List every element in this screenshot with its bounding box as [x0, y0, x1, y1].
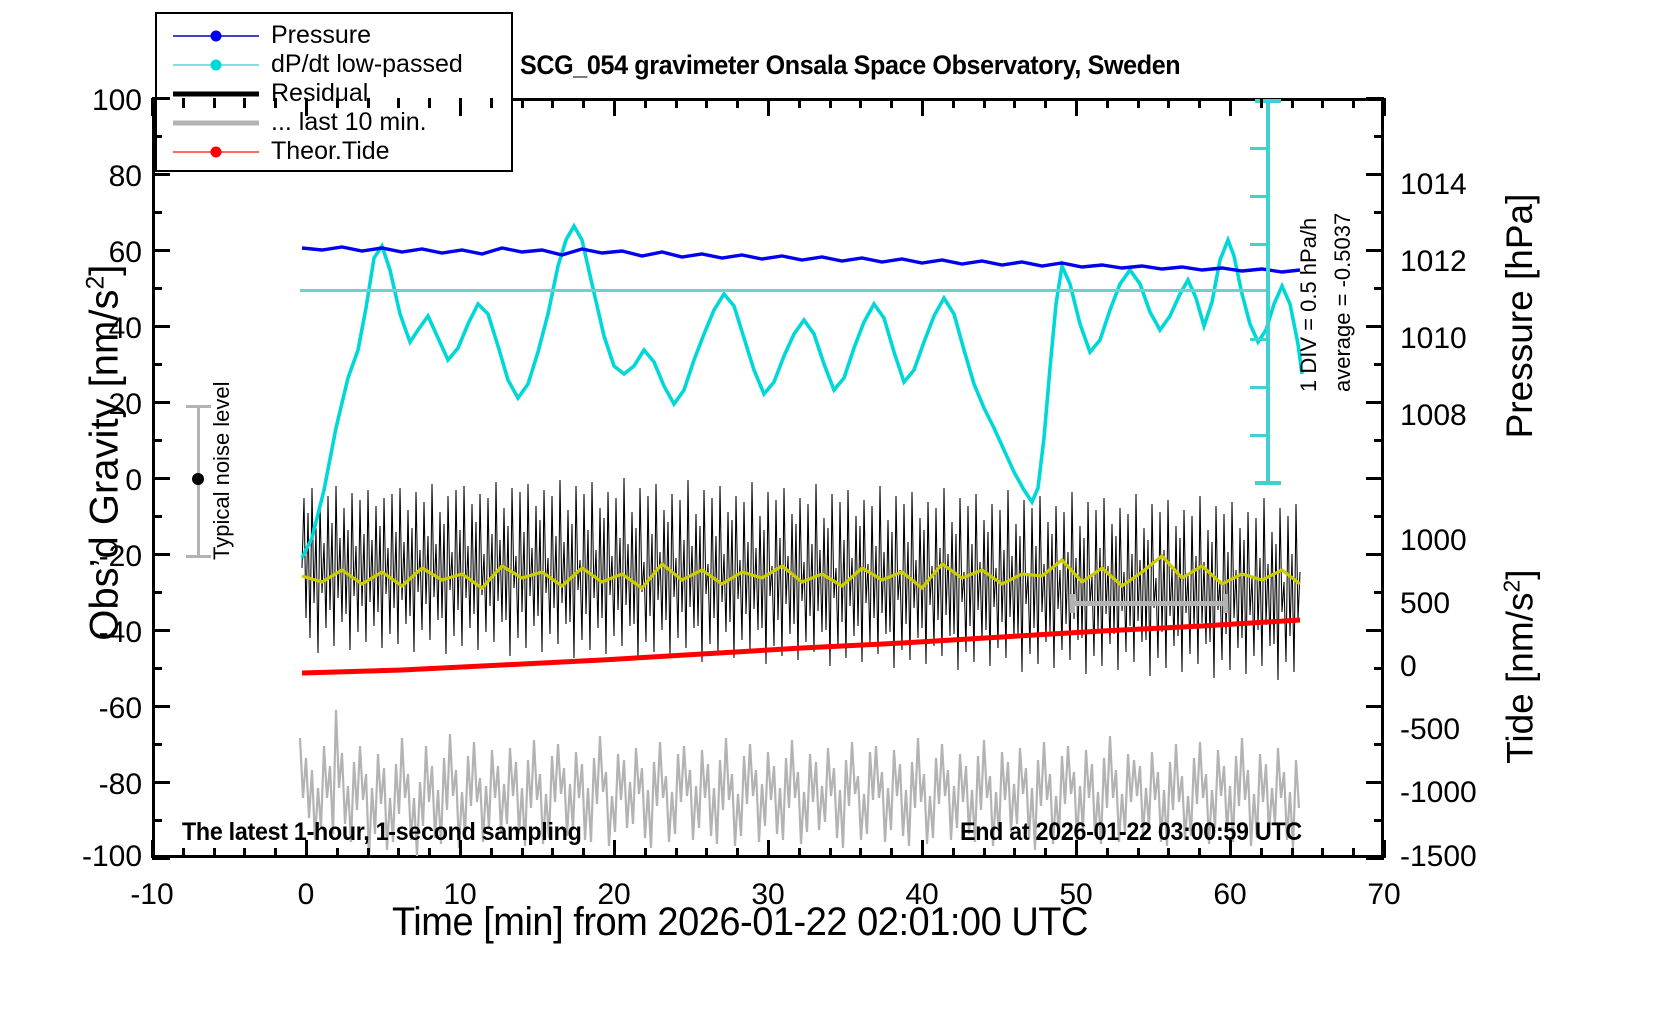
xtick-40: 40	[867, 878, 977, 912]
dpdt-scale-tick	[1250, 147, 1267, 150]
ytick-left-m100: -100	[22, 840, 142, 874]
legend-label-pressure: Pressure	[271, 21, 371, 50]
ytick-pressure-1012: 1012	[1400, 245, 1530, 279]
xtick-60: 60	[1175, 878, 1285, 912]
xtick-m10: -10	[97, 878, 207, 912]
dpdt-scale-tick	[1250, 338, 1267, 341]
legend-swatch-pressure	[173, 26, 259, 46]
legend: Pressure dP/dt low-passed Residual ... l…	[155, 12, 513, 172]
ytick-left-m20: -20	[22, 540, 142, 574]
legend-label-last-10-min: ... last 10 min.	[271, 108, 427, 137]
dpdt-scale-tick	[1250, 434, 1267, 437]
note-end-time: End at 2026-01-22 03:00:59 UTC	[960, 818, 1302, 847]
dpdt-scale-cap-bottom	[1255, 481, 1281, 485]
ytick-left-80: 80	[22, 160, 142, 194]
xtick-30: 30	[713, 878, 823, 912]
chart-title: SCG_054 gravimeter Onsala Space Observat…	[520, 50, 1320, 81]
dpdt-average-note: average = -0.5037	[1330, 213, 1356, 392]
dpdt-scale-tick	[1250, 243, 1267, 246]
noise-level-label: Typical noise level	[209, 381, 235, 560]
ytick-pressure-1010: 1010	[1400, 322, 1530, 356]
ytick-left-0: 0	[22, 464, 142, 498]
legend-swatch-last-10-min	[173, 113, 259, 133]
legend-label-residual: Residual	[271, 79, 368, 108]
xtick-50: 50	[1021, 878, 1131, 912]
xtick-10: 10	[405, 878, 515, 912]
noise-center-dot	[192, 473, 204, 485]
noise-bar-cap-bottom	[186, 555, 211, 558]
legend-swatch-dpdt	[173, 55, 259, 75]
ytick-left-20: 20	[22, 388, 142, 422]
ytick-left-100: 100	[22, 84, 142, 118]
legend-item-dpdt[interactable]: dP/dt low-passed	[173, 50, 511, 79]
dpdt-scale-tick	[1250, 195, 1267, 198]
ytick-tide-500: 500	[1400, 587, 1530, 621]
last-10-min-bracket-right	[1223, 594, 1228, 613]
ytick-left-40: 40	[22, 312, 142, 346]
legend-item-last-10-min[interactable]: ... last 10 min.	[173, 108, 511, 137]
last-10-min-bracket	[1070, 601, 1228, 606]
dpdt-scale-bar	[1266, 99, 1270, 484]
dpdt-scale-tick	[1250, 386, 1267, 389]
ytick-pressure-1008: 1008	[1400, 399, 1530, 433]
dpdt-zero-line	[300, 289, 1270, 292]
dpdt-scale-cap-top	[1255, 99, 1281, 103]
ytick-left-m80: -80	[22, 768, 142, 802]
ytick-tide-0: 0	[1400, 650, 1530, 684]
ytick-tide-m1500: -1500	[1400, 840, 1530, 874]
note-sampling: The latest 1-hour, 1-second sampling	[182, 818, 582, 847]
ytick-left-m60: -60	[22, 692, 142, 726]
ytick-left-60: 60	[22, 236, 142, 270]
legend-item-residual[interactable]: Residual	[173, 79, 511, 108]
legend-item-pressure[interactable]: Pressure	[173, 21, 511, 50]
dpdt-div-note: 1 DIV = 0.5 hPa/h	[1296, 218, 1322, 392]
ytick-pressure-1014: 1014	[1400, 168, 1530, 202]
series-pressure	[302, 247, 1300, 272]
ytick-tide-1000: 1000	[1400, 524, 1530, 558]
ytick-left-m40: -40	[22, 616, 142, 650]
xtick-70: 70	[1329, 878, 1439, 912]
legend-swatch-residual	[173, 84, 259, 104]
legend-label-dpdt: dP/dt low-passed	[271, 50, 463, 79]
ytick-tide-m500: -500	[1400, 713, 1530, 747]
legend-item-theor-tide[interactable]: Theor.Tide	[173, 137, 511, 166]
legend-swatch-theor-tide	[173, 142, 259, 162]
ytick-tide-m1000: -1000	[1400, 776, 1530, 810]
xtick-0: 0	[251, 878, 361, 912]
xtick-20: 20	[559, 878, 669, 912]
data-curves	[152, 98, 1384, 858]
legend-label-theor-tide: Theor.Tide	[271, 137, 390, 166]
